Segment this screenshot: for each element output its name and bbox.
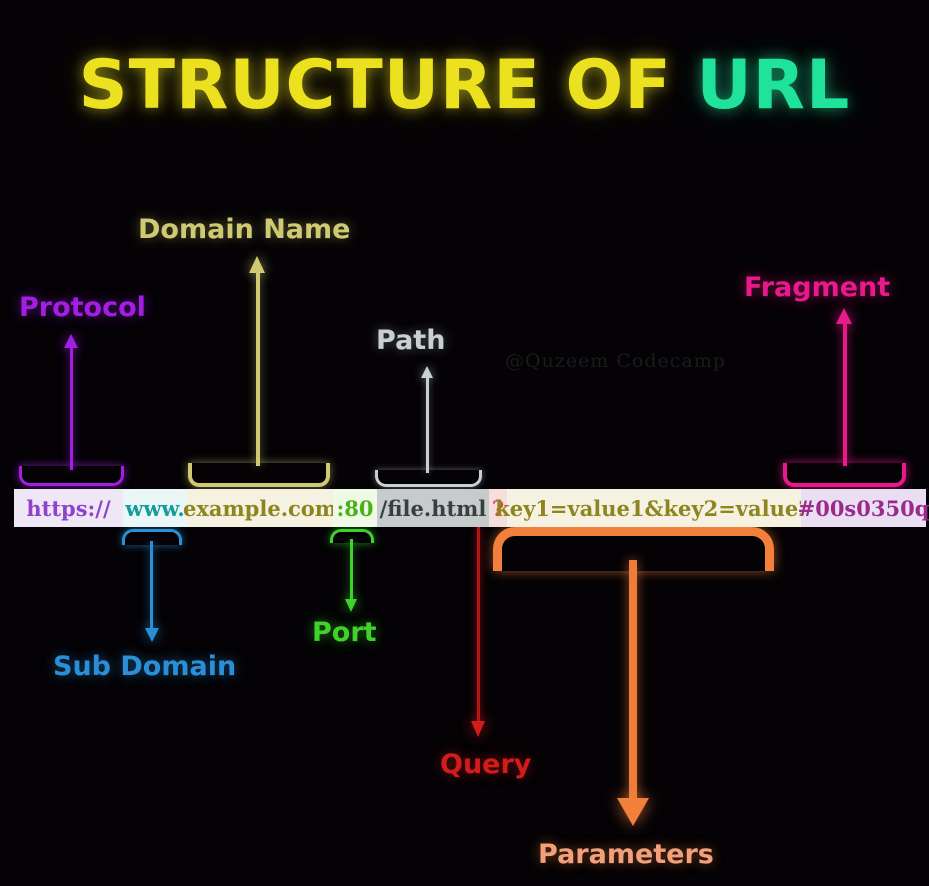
- connector-line-parameters: [629, 560, 637, 803]
- label-fragment: Fragment: [744, 272, 890, 303]
- url-segment-subdomain[interactable]: www.: [123, 489, 187, 527]
- label-domain-name: Domain Name: [138, 214, 350, 245]
- url-structure-diagram: STRUCTURE OF URL @Quzeem Codecamp Protoc…: [0, 0, 929, 886]
- connector-arrow-domain-name: [249, 256, 265, 273]
- connector-line-fragment: [843, 320, 847, 466]
- label-query: Query: [440, 749, 531, 780]
- connector-arrow-sub-domain: [145, 628, 159, 642]
- url-segment-domain[interactable]: example.com: [187, 489, 333, 527]
- label-path: Path: [376, 325, 445, 356]
- connector-arrow-parameters: [617, 798, 649, 826]
- label-sub-domain: Sub Domain: [53, 651, 236, 682]
- connector-line-path: [426, 375, 429, 473]
- url-segment-path[interactable]: /file.html: [377, 489, 489, 527]
- connector-arrow-fragment: [836, 308, 852, 324]
- page-title-accent: URL: [696, 46, 850, 125]
- label-port: Port: [312, 617, 377, 648]
- connector-arrow-query: [471, 721, 485, 737]
- connector-arrow-port: [345, 599, 357, 612]
- connector-brace-fragment: [783, 463, 906, 487]
- connector-line-protocol: [70, 345, 73, 470]
- url-segment-fragment[interactable]: #00s0350q: [801, 489, 926, 527]
- connector-line-sub-domain: [150, 541, 153, 630]
- label-protocol: Protocol: [19, 292, 146, 323]
- page-title: STRUCTURE OF URL: [0, 46, 929, 125]
- url-segment-protocol[interactable]: https://: [14, 489, 123, 527]
- page-title-main: STRUCTURE OF: [79, 46, 697, 125]
- connector-arrow-path: [421, 366, 433, 378]
- watermark-text: @Quzeem Codecamp: [505, 350, 726, 372]
- url-segment-port[interactable]: :80: [333, 489, 377, 527]
- url-bar[interactable]: https:// www. example.com :80 /file.html…: [14, 489, 926, 527]
- label-parameters: Parameters: [538, 839, 714, 870]
- connector-arrow-protocol: [64, 334, 78, 348]
- connector-brace-domain-name: [188, 463, 330, 487]
- connector-line-port: [350, 539, 353, 601]
- url-segment-parameters[interactable]: key1=value1&key2=value2: [507, 489, 801, 527]
- connector-line-query: [477, 527, 480, 724]
- connector-line-domain-name: [256, 270, 260, 466]
